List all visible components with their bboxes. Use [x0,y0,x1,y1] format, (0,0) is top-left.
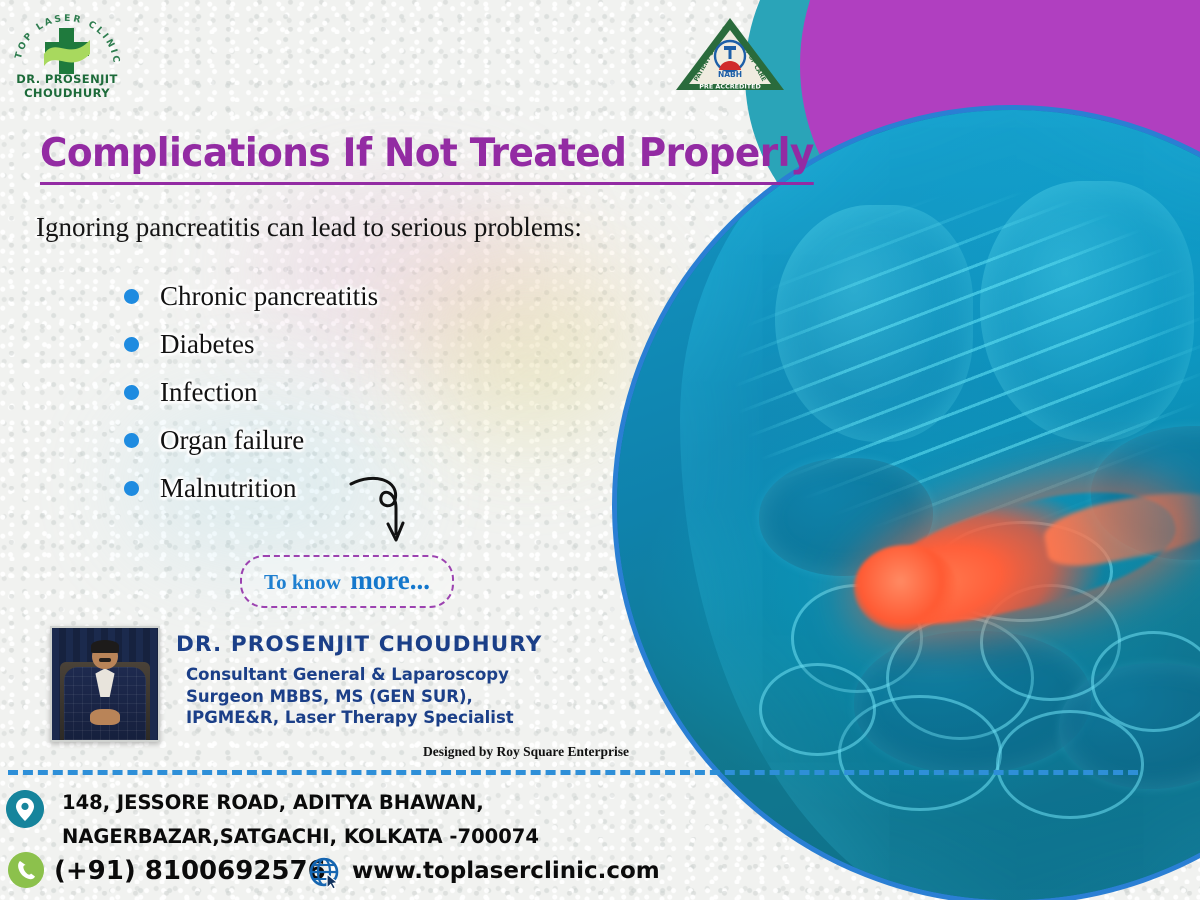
address-line-2: NAGERBAZAR,SATGACHI, KOLKATA -700074 [62,820,539,854]
list-item: Organ failure [124,416,378,464]
doctor-credential-line2: Surgeon MBBS, MS (GEN SUR), [186,686,514,708]
list-item-label: Malnutrition [160,473,297,504]
logo-clinic-name: DR. PROSENJIT CHOUDHURY [8,72,126,100]
list-item: Malnutrition [124,464,378,512]
pancreas-head [854,545,957,632]
bullet-dot-icon [124,289,139,304]
globe-cursor-icon [308,856,342,890]
doctor-name: DR. PROSENJIT CHOUDHURY [176,632,542,657]
design-credit: Designed by Roy Square Enterprise [423,744,629,760]
subheading: Ignoring pancreatitis can lead to seriou… [36,212,582,243]
nabh-status-text: PRE ACCREDITED [699,83,761,91]
doctor-credential-line3: IPGME&R, Laser Therapy Specialist [186,707,514,729]
clinic-address: 148, JESSORE ROAD, ADITYA BHAWAN, NAGERB… [62,786,539,854]
lung-right [980,181,1193,442]
clinic-logo: TOP LASER CLINIC DR. PROSENJIT CHOUDHURY [8,14,126,106]
list-item: Diabetes [124,320,378,368]
clinic-phone[interactable]: (+91) 8100692576 [54,856,326,886]
cta-label-big: more... [350,565,430,595]
list-item: Chronic pancreatitis [124,272,378,320]
lung-left [775,205,973,442]
to-know-more-button[interactable]: To know more... [240,555,454,608]
decorative-blob [430,290,630,450]
intestine-loop [759,663,876,756]
cta-label-small: To know [264,570,341,594]
clinic-website[interactable]: www.toplaserclinic.com [352,858,660,884]
list-item-label: Diabetes [160,329,254,360]
location-pin-icon [6,790,44,828]
bullet-dot-icon [124,433,139,448]
doctor-portrait-photo [50,626,160,742]
page-title: Complications If Not Treated Properly [40,131,814,185]
bullet-dot-icon [124,385,139,400]
bullet-dot-icon [124,337,139,352]
list-item: Infection [124,368,378,416]
logo-cross-icon: TOP LASER CLINIC [8,14,126,76]
list-item-label: Chronic pancreatitis [160,281,378,312]
bullet-dot-icon [124,481,139,496]
nabh-accreditation-badge: PATIENT SAFETY & QUALITY OF CARE NABH PR… [672,14,788,96]
xray-anatomy-image [612,105,1200,900]
photo-hands [90,709,120,726]
doctor-credential-line1: Consultant General & Laparoscopy [186,664,514,686]
logo-name-line2: CHOUDHURY [24,86,110,100]
list-item-label: Organ failure [160,425,304,456]
intestine-loop [996,710,1144,819]
phone-icon [8,852,44,888]
photo-hair [91,640,120,652]
doctor-credentials: Consultant General & Laparoscopy Surgeon… [186,664,514,729]
curved-down-arrow-icon [348,474,418,552]
list-item-label: Infection [160,377,257,408]
nabh-org-text: NABH [718,70,742,79]
photo-moustache [99,658,112,662]
address-line-1: 148, JESSORE ROAD, ADITYA BHAWAN, [62,786,539,820]
complications-list: Chronic pancreatitis Diabetes Infection … [124,272,378,512]
logo-name-line1: DR. PROSENJIT [16,72,117,86]
xray-background [617,110,1200,900]
footer-divider [8,770,1138,775]
poster-canvas: TOP LASER CLINIC DR. PROSENJIT CHOUDHURY… [0,0,1200,900]
